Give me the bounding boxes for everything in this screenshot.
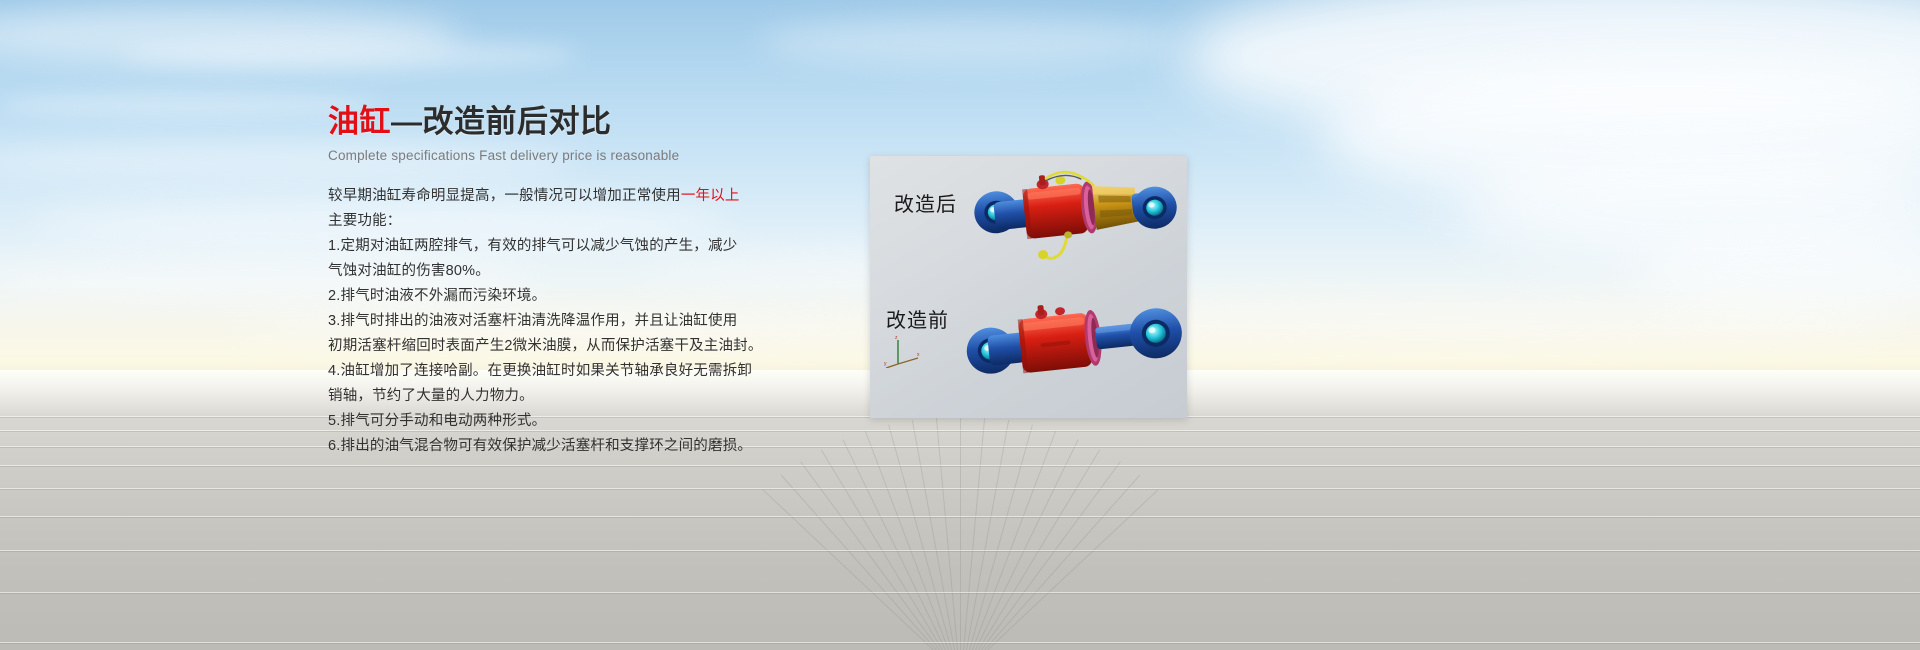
cloud-streak [760, 18, 1180, 66]
pavement-seam [0, 516, 1920, 517]
cloud-streak [0, 92, 380, 118]
feature-line: 6.排出的油气混合物可有效保护减少活塞杆和支撑环之间的磨损。 [328, 434, 748, 459]
feature-line-text: 主要功能： [328, 213, 402, 229]
page-title-rest: —改造前后对比 [391, 104, 612, 139]
pavement-seam [0, 550, 1920, 551]
label-before-modification: 改造前 [886, 304, 949, 333]
xyz-axis-icon: z x y [884, 334, 922, 368]
pavement-seam [0, 446, 1920, 447]
feature-line: 气蚀对油缸的伤害80%。 [328, 259, 748, 284]
cloud-streak [0, 6, 460, 64]
product-image-panel: 改造后 改造前 [870, 156, 1187, 418]
page-title: 油缸—改造前后对比 [328, 104, 748, 140]
pavement-seam [960, 416, 961, 650]
banner-copy: 油缸—改造前后对比 Complete specifications Fast d… [328, 104, 748, 459]
feature-line-text: 5.排气可分手动和电动两种形式。 [328, 413, 546, 429]
cloud-streak [120, 40, 580, 70]
feature-line: 初期活塞杆缩回时表面产生2微米油膜，从而保护活塞干及主油封。 [328, 334, 748, 359]
pavement-seam [842, 439, 945, 650]
feature-line-text: 3.排气时排出的油液对活塞杆油清洗降温作用，并且让油缸使用 [328, 313, 737, 329]
label-after-modification: 改造后 [894, 188, 957, 217]
cylinder-before-render [957, 271, 1187, 408]
feature-line-text: 气蚀对油缸的伤害80%。 [328, 263, 490, 279]
feature-line: 2.排气时油液不外漏而污染环境。 [328, 284, 748, 309]
feature-line-text: 4.油缸增加了连接哈副。在更换油缸时如果关节轴承良好无需拆卸 [328, 363, 752, 379]
svg-text:x: x [917, 352, 920, 358]
pavement-seam [763, 489, 934, 650]
feature-line: 销轴，节约了大量的人力物力。 [328, 384, 748, 409]
pavement-seam [963, 417, 985, 650]
cylinder-after-render [965, 157, 1187, 291]
feature-line-text: 较早期油缸寿命明显提高，一般情况可以增加正常使用 [328, 188, 681, 204]
cloud-bank [1460, 150, 1920, 270]
page-title-highlight: 油缸 [328, 104, 391, 139]
pavement-seam [975, 439, 1078, 650]
pavement-seam [781, 475, 937, 650]
feature-line: 主要功能： [328, 209, 748, 234]
feature-line-text: 6.排出的油气混合物可有效保护减少活塞杆和支撑环之间的磨损。 [328, 438, 752, 454]
feature-line-text: 销轴，节约了大量的人力物力。 [328, 388, 534, 404]
pavement-seam [0, 465, 1920, 466]
pavement-seam [0, 592, 1920, 593]
feature-line: 3.排气时排出的油液对活塞杆油清洗降温作用，并且让油缸使用 [328, 309, 748, 334]
feature-line-highlight: 一年以上 [681, 188, 740, 204]
page-subtitle: Complete specifications Fast delivery pr… [328, 148, 748, 163]
feature-line-text: 1.定期对油缸两腔排气，有效的排气可以减少气蚀的产生，减少 [328, 238, 737, 254]
cloud-bank [1320, 60, 1920, 210]
pavement-seam [0, 642, 1920, 643]
pavement-seam [0, 430, 1920, 431]
cloud-bank [1640, 228, 1920, 318]
pavement-seam [0, 488, 1920, 489]
pavement-seam [981, 461, 1121, 650]
feature-line-text: 初期活塞杆缩回时表面产生2微米油膜，从而保护活塞干及主油封。 [328, 338, 763, 354]
banner-stage: 油缸—改造前后对比 Complete specifications Fast d… [0, 0, 1920, 650]
feature-line: 4.油缸增加了连接哈副。在更换油缸时如果关节轴承良好无需拆卸 [328, 359, 748, 384]
feature-list: 较早期油缸寿命明显提高，一般情况可以增加正常使用一年以上主要功能：1.定期对油缸… [328, 184, 748, 459]
feature-line-text: 2.排气时油液不外漏而污染环境。 [328, 288, 546, 304]
pavement-seam [800, 461, 940, 650]
feature-line: 较早期油缸寿命明显提高，一般情况可以增加正常使用一年以上 [328, 184, 748, 209]
feature-line: 5.排气可分手动和电动两种形式。 [328, 409, 748, 434]
pavement-seam [984, 475, 1140, 650]
svg-text:y: y [884, 361, 887, 367]
cloud-bank [1180, 0, 1920, 140]
feature-line: 1.定期对油缸两腔排气，有效的排气可以减少气蚀的产生，减少 [328, 234, 748, 259]
